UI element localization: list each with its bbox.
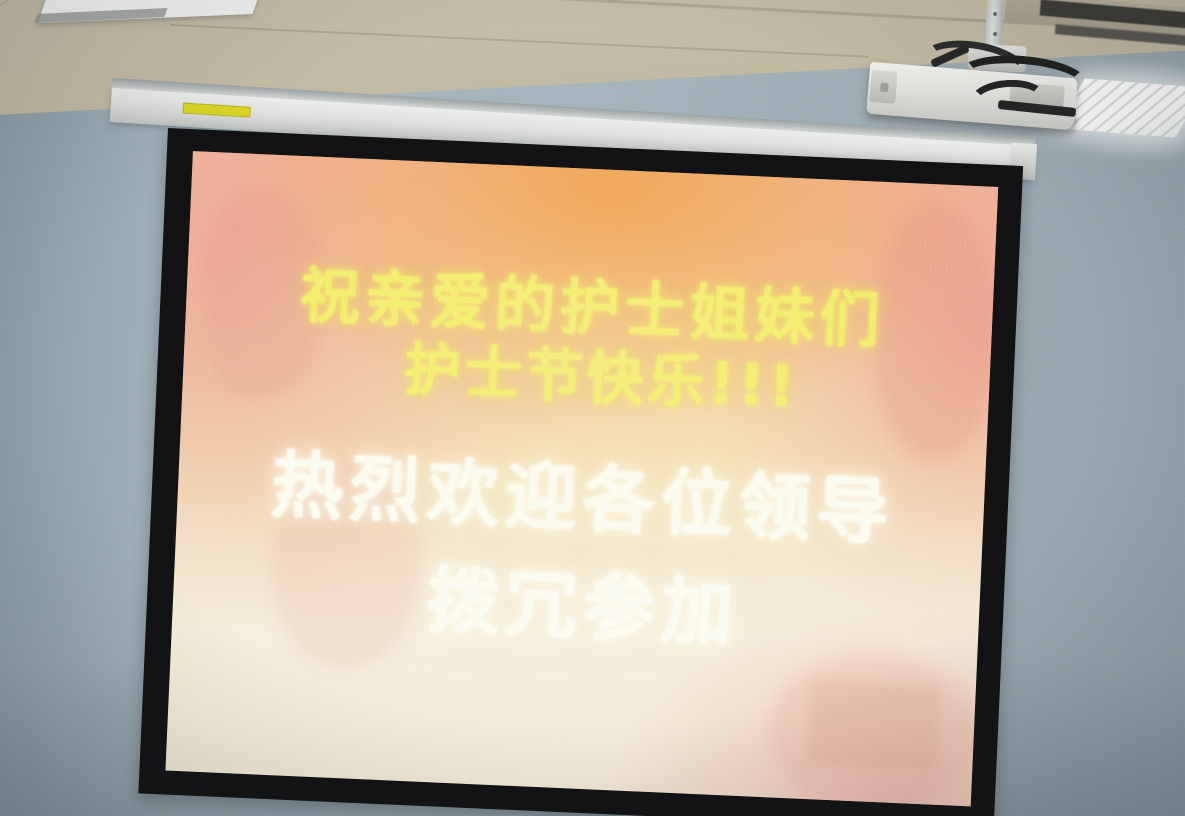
housing-sticker-label <box>182 102 251 117</box>
slide-line-greeting-1: 祝亲爱的护士姐妹们 <box>299 264 886 355</box>
projector-mount-screw <box>993 32 997 36</box>
projection-screen-surface[interactable]: 祝亲爱的护士姐妹们 护士节快乐!!! 热烈欢迎各位领导 拨冗参加 <box>165 151 998 806</box>
projection-screen-frame: 祝亲爱的护士姐妹们 护士节快乐!!! 热烈欢迎各位领导 拨冗参加 <box>138 128 1023 816</box>
slide-line-welcome-2: 拨冗参加 <box>425 562 740 654</box>
slide-line-welcome-1: 热烈欢迎各位领导 <box>269 447 896 552</box>
slide-text-block: 祝亲爱的护士姐妹们 护士节快乐!!! 热烈欢迎各位领导 拨冗参加 <box>165 151 998 806</box>
projector-mount-screw <box>993 12 997 16</box>
projector-lens-housing <box>869 70 897 104</box>
slide-line-greeting-2: 护士节快乐!!! <box>403 340 800 419</box>
projector-lens <box>880 83 889 93</box>
room-photo: 祝亲爱的护士姐妹们 护士节快乐!!! 热烈欢迎各位领导 拨冗参加 Photogr… <box>0 0 1185 816</box>
projector-mount-pole <box>985 0 1005 50</box>
